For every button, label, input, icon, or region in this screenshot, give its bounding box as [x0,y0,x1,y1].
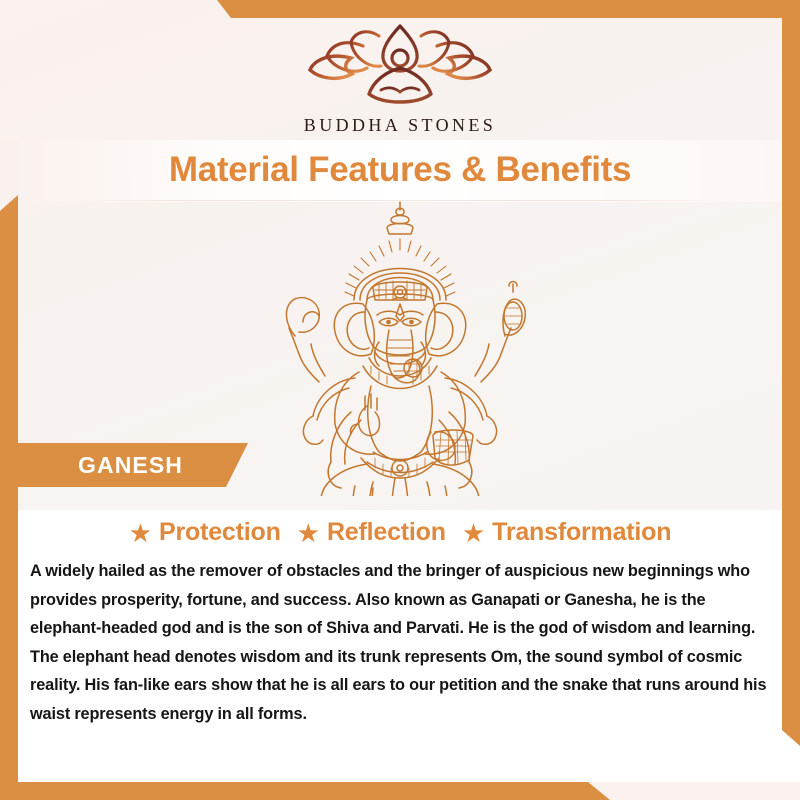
description-block: A widely hailed as the remover of obstac… [30,557,772,729]
frame-top-accent [214,0,800,18]
benefit-item-transformation: ★ Transformation [462,518,671,547]
deity-name-ribbon: GANESH [18,443,248,487]
product-feature-poster: BUDDHA STONES Material Features & Benefi… [0,0,800,800]
benefits-row: ★ Protection ★ Reflection ★ Transformati… [0,518,800,547]
benefit-label: Protection [159,518,281,547]
frame-bottom-accent [0,782,610,800]
page-title-band: Material Features & Benefits [0,150,800,190]
benefit-label: Reflection [327,518,446,547]
deity-name-label: GANESH [78,452,183,479]
lotus-meditation-logo-icon [305,22,495,108]
star-icon: ★ [462,520,485,546]
star-icon: ★ [297,520,320,546]
ganesh-deity-illustration-icon [255,196,545,496]
benefit-label: Transformation [492,518,671,547]
frame-left-accent [0,195,18,800]
benefit-item-protection: ★ Protection [129,518,281,547]
brand-name: BUDDHA STONES [304,115,496,136]
benefit-item-reflection: ★ Reflection [297,518,446,547]
star-icon: ★ [129,520,152,546]
page-title: Material Features & Benefits [169,150,631,190]
description-text: A widely hailed as the remover of obstac… [30,557,772,729]
brand-logo: BUDDHA STONES [0,22,800,136]
